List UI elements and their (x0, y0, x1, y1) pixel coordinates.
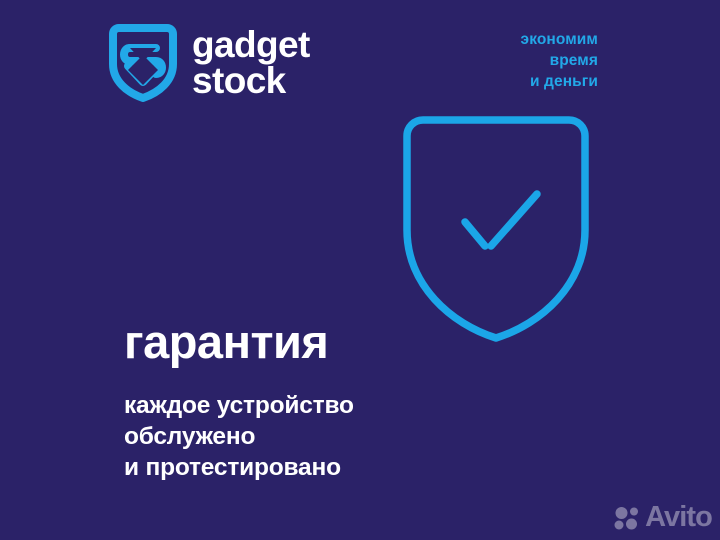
promo-banner: gadget stock экономим время и деньги гар… (0, 0, 720, 540)
avito-dots-icon (614, 506, 640, 530)
body-copy-line-2: обслужено (124, 421, 354, 452)
avito-wordmark: Avito (645, 503, 712, 532)
brand-wordmark: gadget stock (192, 25, 310, 99)
tagline: экономим время и деньги (521, 29, 598, 92)
body-copy-line-3: и протестировано (124, 452, 354, 483)
shield-check-icon (396, 110, 596, 344)
brand-lockup: gadget stock (106, 22, 310, 102)
checkmark-icon (465, 194, 537, 246)
body-copy: каждое устройство обслужено и протестиро… (124, 390, 354, 483)
avito-watermark: Avito (614, 503, 712, 532)
page-title: гарантия (124, 318, 328, 365)
tagline-line-1: экономим (521, 29, 598, 50)
shield-logo-icon (106, 22, 180, 102)
shield-outline-icon (407, 120, 585, 338)
body-copy-line-1: каждое устройство (124, 390, 354, 421)
tagline-line-3: и деньги (521, 71, 598, 92)
tagline-line-2: время (521, 50, 598, 71)
brand-name-line-2: stock (192, 63, 310, 99)
brand-name-line-1: gadget (192, 27, 310, 63)
